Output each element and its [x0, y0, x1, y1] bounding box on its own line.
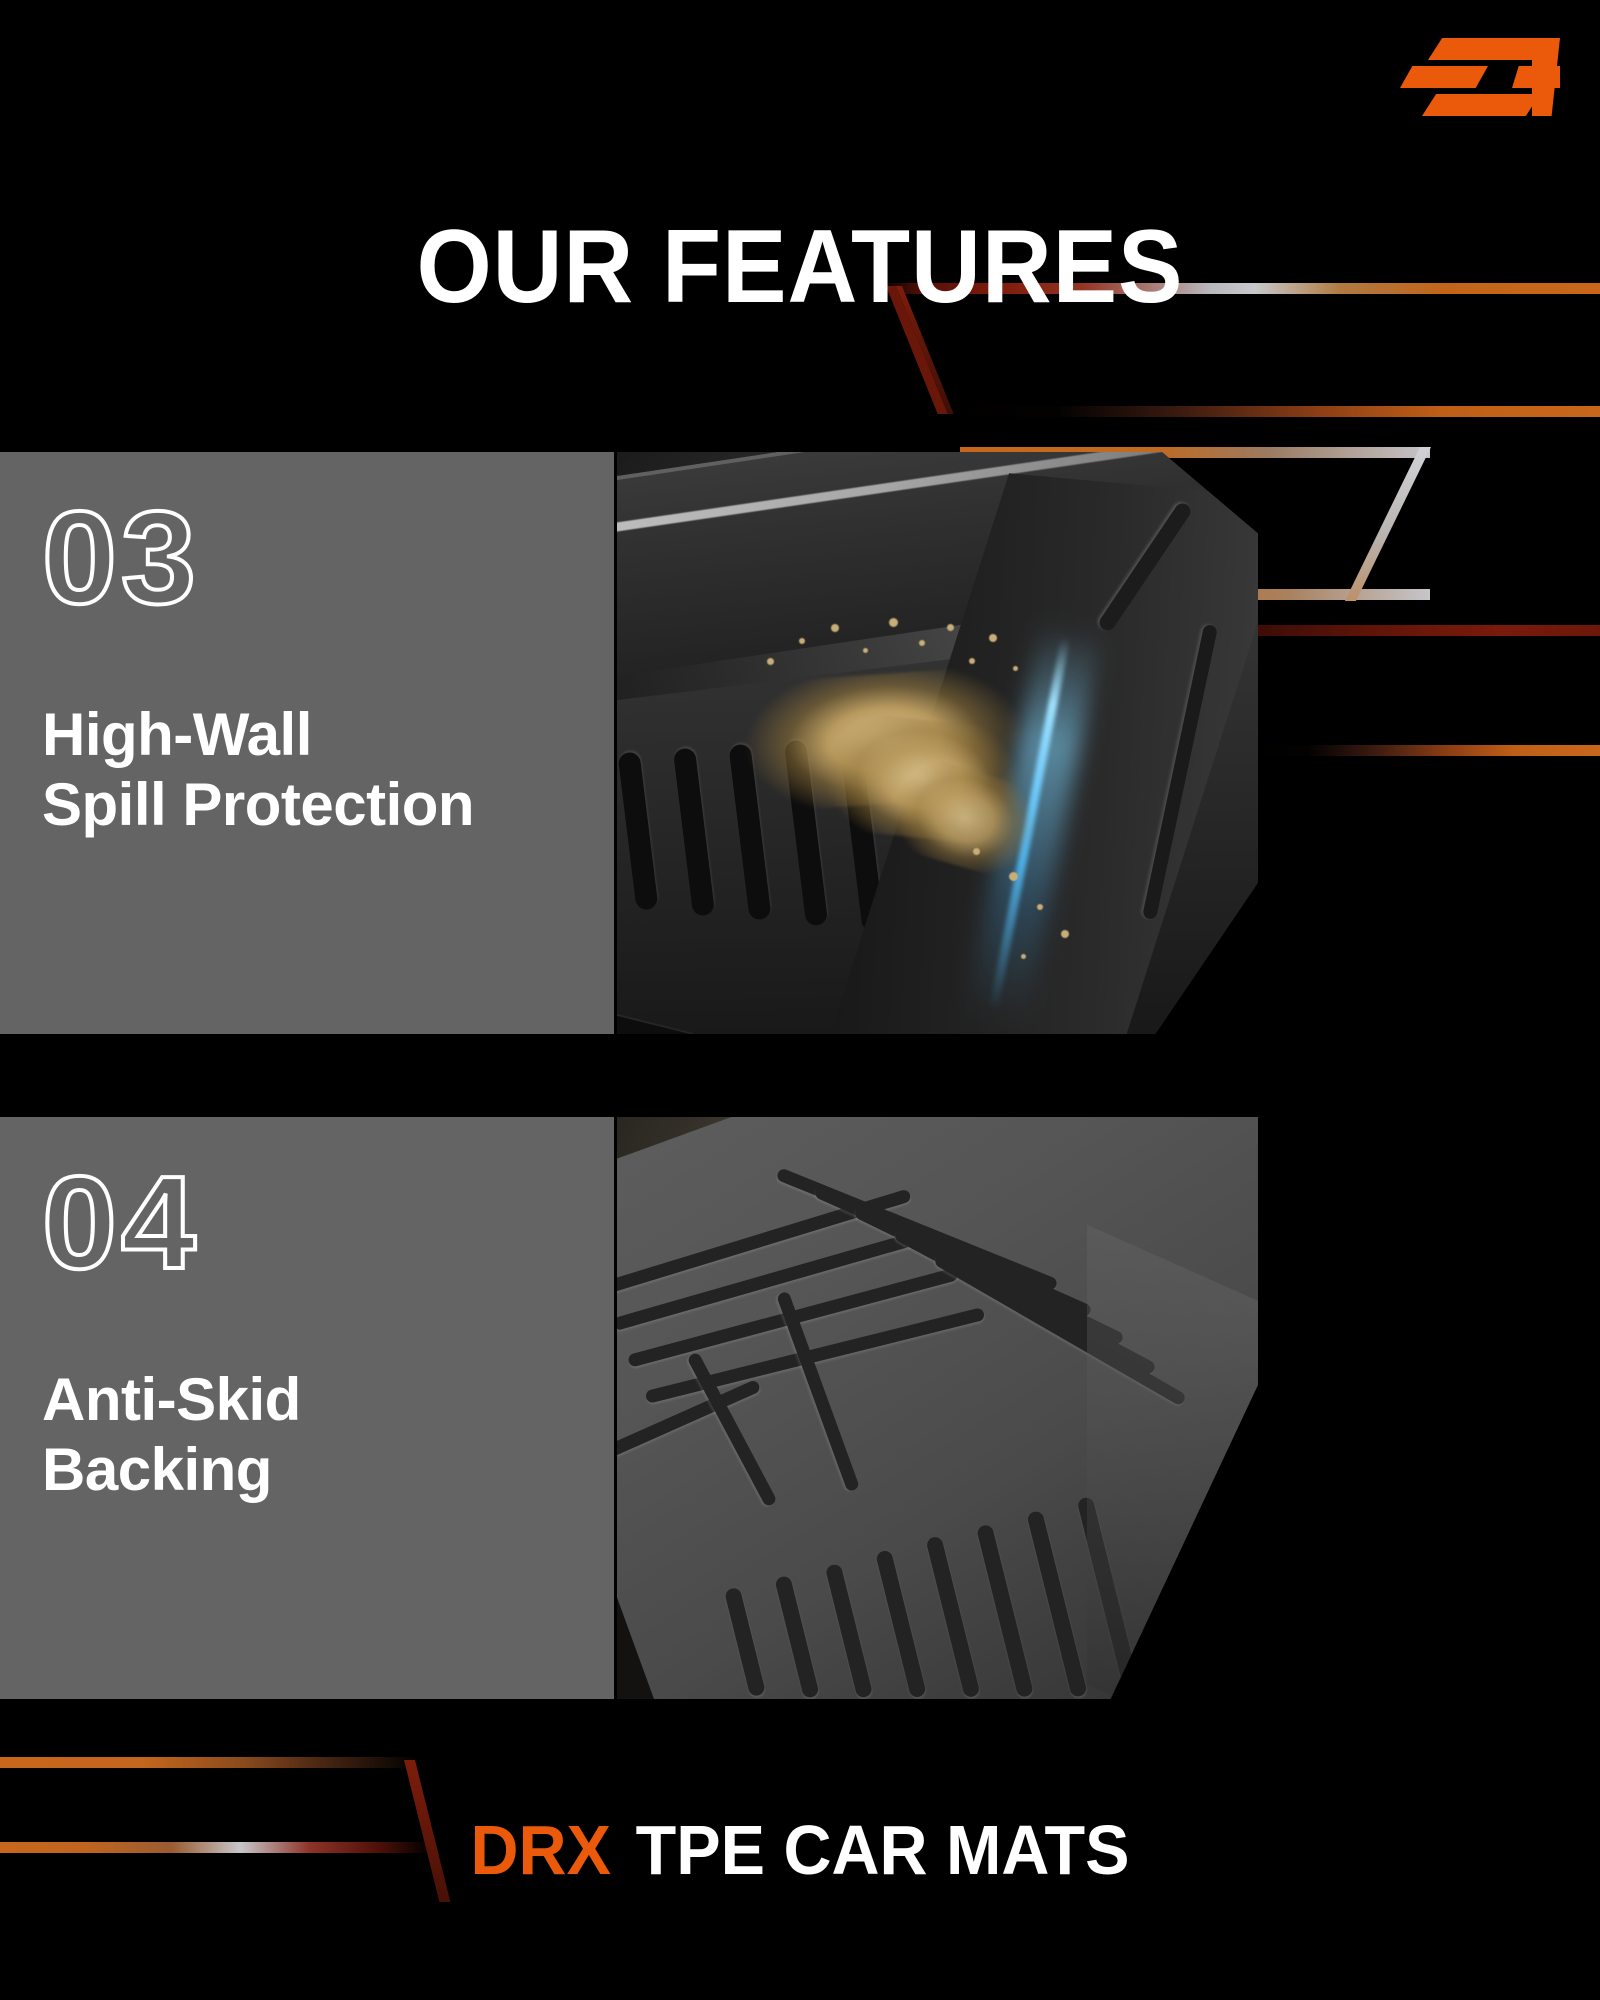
logo-bar-bottom [1422, 94, 1540, 116]
feature-04-image-inner [617, 1117, 1258, 1699]
page-title: OUR FEATURES [56, 215, 1544, 319]
decor-line-6 [0, 1757, 420, 1768]
drx-logo[interactable] [1400, 38, 1560, 118]
feature-card-04: 04 Anti-Skid Backing [0, 1117, 1260, 1699]
footer-tagline: TPE CAR MATS [636, 1811, 1130, 1889]
feature-04-number: 04 [42, 1157, 200, 1289]
decor-line-5 [1245, 745, 1600, 756]
poster-canvas: OUR FEATURES 03 High-Wall Spill Protecti… [0, 0, 1600, 2000]
feature-03-number: 03 [42, 492, 200, 624]
footer-brand: DRX [471, 1811, 611, 1889]
feature-03-title: High-Wall Spill Protection [42, 700, 582, 840]
feature-03-image [617, 452, 1258, 1034]
decor-par-right [1345, 447, 1431, 601]
feature-card-03: 03 High-Wall Spill Protection [0, 452, 1260, 1034]
footer-branding: DRXTPE CAR MATS [40, 1815, 1560, 1885]
feature-04-image [617, 1117, 1258, 1699]
logo-bar-mid [1400, 66, 1488, 88]
logo-bar-top [1428, 38, 1546, 60]
feature-03-image-inner [617, 452, 1258, 1034]
feature-04-title: Anti-Skid Backing [42, 1365, 582, 1505]
decor-line-2 [940, 406, 1600, 417]
